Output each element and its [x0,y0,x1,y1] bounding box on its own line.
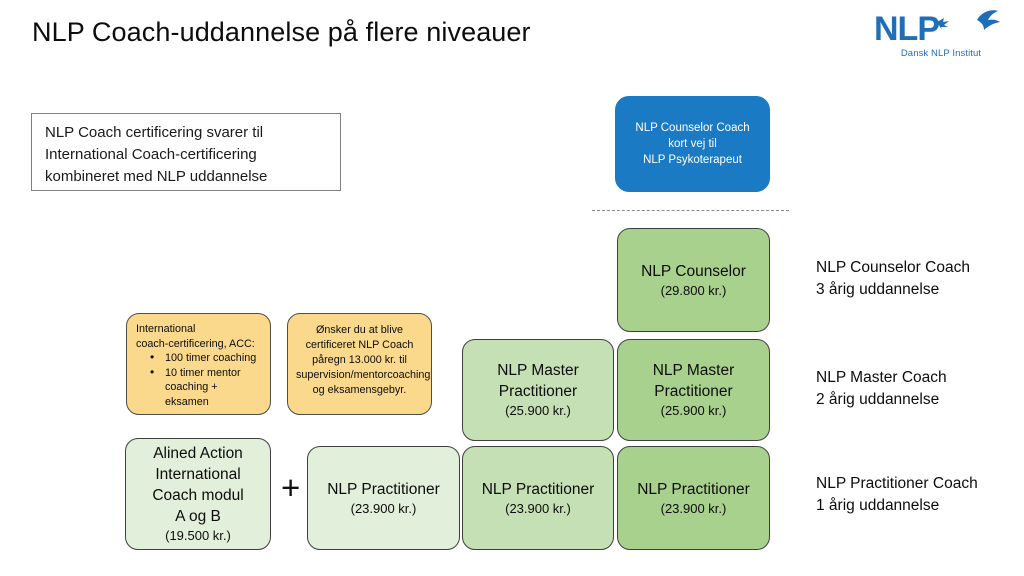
list-item-label: 10 timer mentor coaching + eksamen [165,367,241,408]
node-title-line1: NLP Master [653,360,735,381]
node-line-1: Alined Action [153,443,243,464]
node-price: (23.900 kr.) [351,500,417,518]
node-title: NLP Counselor [641,261,746,282]
node-price: (23.900 kr.) [505,500,571,518]
info-box-international-coach-certificering: International coach-certificering, ACC: … [126,313,271,415]
node-price: (29.800 kr.) [661,282,727,300]
node-alined-action-coach-modul[interactable]: Alined Action International Coach modul … [125,438,271,550]
dashed-separator [592,210,789,211]
side-label-line1: NLP Counselor Coach [816,257,970,279]
side-label-line2: 1 årig uddannelse [816,495,978,517]
node-title: NLP Practitioner [327,479,440,500]
svg-text:NLP: NLP [874,10,939,48]
node-price: (25.900 kr.) [505,402,571,420]
nlp-logo-mark: NLP [874,8,1002,48]
node-line-4: A og B [175,506,221,527]
list-item-label: 100 timer coaching [165,352,256,364]
logo-subtitle: Dansk NLP Institut [880,48,1002,59]
info-box-certificeret-nlp-coach: Ønsker du at blive certificeret NLP Coac… [287,313,432,415]
yellow-left-heading-2: coach-certificering, ACC: [136,337,264,352]
yellow-left-bullet-list: •100 timer coaching •10 timer mentor coa… [136,351,264,409]
list-item: •10 timer mentor coaching + eksamen [152,366,264,410]
node-nlp-counselor[interactable]: NLP Counselor (29.800 kr.) [617,228,770,332]
side-label-master: NLP Master Coach 2 årig uddannelse [816,367,947,411]
side-label-line1: NLP Practitioner Coach [816,473,978,495]
list-item: •100 timer coaching [152,351,264,366]
node-title-line2: Practitioner [654,381,732,402]
node-nlp-practitioner-mid[interactable]: NLP Practitioner (23.900 kr.) [462,446,614,550]
plus-icon: + [281,471,300,504]
blue-line-2: kort vej til [668,136,717,152]
side-label-practitioner: NLP Practitioner Coach 1 årig uddannelse [816,473,978,517]
side-label-line2: 3 årig uddannelse [816,279,970,301]
node-line-2: International [155,464,240,485]
node-line-3: Coach modul [152,485,243,506]
note-line-3: kombineret med NLP uddannelse [45,166,329,188]
node-title: NLP Practitioner [637,479,750,500]
node-title-line1: NLP Master [497,360,579,381]
side-label-line2: 2 årig uddannelse [816,389,947,411]
yellow-right-text: Ønsker du at blive certificeret NLP Coac… [296,323,423,398]
logo: NLP Dansk NLP Institut [874,8,1002,64]
note-line-2: International Coach-certificering [45,144,329,166]
node-price: (25.900 kr.) [661,402,727,420]
node-nlp-counselor-coach-blue[interactable]: NLP Counselor Coach kort vej til NLP Psy… [615,96,770,192]
page-title: NLP Coach-uddannelse på flere niveauer [32,17,531,48]
side-label-line1: NLP Master Coach [816,367,947,389]
side-label-counselor: NLP Counselor Coach 3 årig uddannelse [816,257,970,301]
note-box: NLP Coach certificering svarer til Inter… [31,113,341,191]
blue-line-3: NLP Psykoterapeut [643,152,742,168]
node-nlp-practitioner-light[interactable]: NLP Practitioner (23.900 kr.) [307,446,460,550]
note-line-1: NLP Coach certificering svarer til [45,122,329,144]
seagull-icon [977,10,1000,30]
node-nlp-master-practitioner-mid[interactable]: NLP Master Practitioner (25.900 kr.) [462,339,614,441]
bullet-icon: • [150,350,154,365]
bullet-icon: • [150,365,154,380]
node-nlp-practitioner-dark[interactable]: NLP Practitioner (23.900 kr.) [617,446,770,550]
node-title-line2: Practitioner [499,381,577,402]
node-price: (23.900 kr.) [661,500,727,518]
yellow-left-heading-1: International [136,322,264,337]
node-title: NLP Practitioner [482,479,595,500]
node-price: (19.500 kr.) [165,527,231,545]
blue-line-1: NLP Counselor Coach [635,120,749,136]
node-nlp-master-practitioner-dark[interactable]: NLP Master Practitioner (25.900 kr.) [617,339,770,441]
